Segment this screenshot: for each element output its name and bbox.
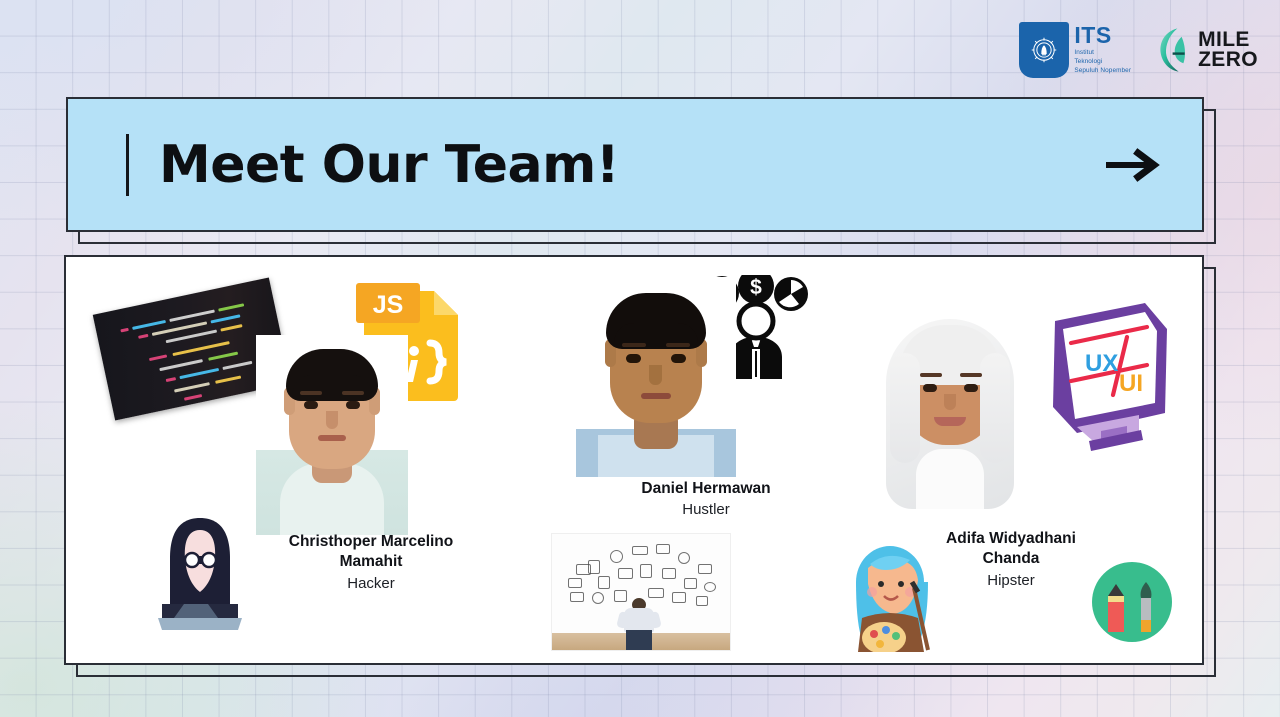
portrait-daniel xyxy=(576,277,736,477)
its-line3: Sepuluh Nopember xyxy=(1074,67,1131,76)
member-christhoper: Christhoper Marcelino Mamahit Hacker xyxy=(216,532,526,592)
member-name: Christhoper Marcelino Mamahit xyxy=(216,532,526,573)
slide-canvas: ITS Institut Teknologi Sepuluh Nopember xyxy=(0,0,1280,717)
member-daniel: Daniel Hermawan Hustler xyxy=(546,479,866,518)
its-line2: Teknologi xyxy=(1074,58,1131,67)
title-banner-wrapper: Meet Our Team! xyxy=(66,97,1204,232)
mile-zero-mark-icon xyxy=(1157,26,1193,74)
next-arrow-button[interactable] xyxy=(1102,148,1164,182)
svg-text:UI: UI xyxy=(1119,370,1143,397)
member-name: Daniel Hermawan xyxy=(546,479,866,499)
member-role: Hacker xyxy=(216,575,526,592)
idea-wall-photo xyxy=(551,533,731,651)
title-banner: Meet Our Team! xyxy=(66,97,1204,232)
svg-text:JS: JS xyxy=(373,291,404,319)
arrow-right-icon xyxy=(1102,148,1164,182)
svg-text:$: $ xyxy=(750,276,762,299)
logo-bar: ITS Institut Teknologi Sepuluh Nopember xyxy=(1019,22,1258,78)
team-card-wrapper: JS xyxy=(64,255,1204,665)
its-line1: Institut xyxy=(1074,49,1131,58)
portrait-christhoper xyxy=(256,335,408,535)
team-card: JS xyxy=(64,255,1204,665)
its-logo: ITS Institut Teknologi Sepuluh Nopember xyxy=(1019,22,1131,78)
mile-zero-line2: ZERO xyxy=(1198,50,1258,70)
pencil-brush-icon xyxy=(1084,554,1180,650)
mile-zero-logo: MILE ZERO xyxy=(1157,26,1258,74)
svg-text:UX: UX xyxy=(1085,350,1118,377)
member-role: Hustler xyxy=(546,501,866,518)
uxui-monitor-icon: UX UI xyxy=(1041,299,1176,451)
its-abbr: ITS xyxy=(1074,24,1131,47)
its-shield-icon xyxy=(1019,22,1069,78)
portrait-adifa xyxy=(876,299,1024,509)
title-accent-rule xyxy=(126,134,129,196)
page-title: Meet Our Team! xyxy=(159,135,619,195)
